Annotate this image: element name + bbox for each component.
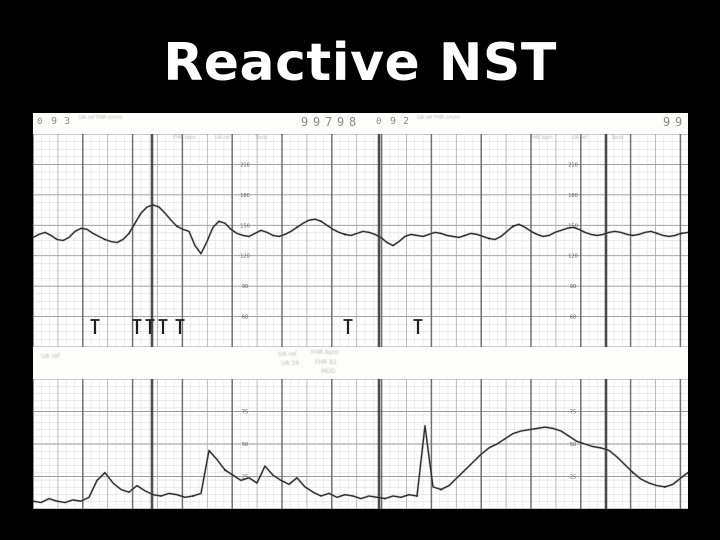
svg-text:75: 75 — [570, 410, 576, 416]
annotation-4: FHR 92 — [315, 359, 337, 366]
svg-text:120: 120 — [568, 254, 578, 260]
svg-text:75: 75 — [242, 410, 248, 416]
header-right-code-1: 9 — [390, 116, 396, 127]
header-right-block: UA ref FHR cm/m — [417, 116, 460, 121]
fhr-col-label-left-2: Tocol — [255, 135, 267, 141]
fhr-col-label-right-2: Tocol — [611, 135, 623, 141]
svg-text:60: 60 — [242, 315, 248, 321]
header-center-code-3: 9 — [337, 115, 344, 129]
fhr-chart: 60901201501802106090120150180210 — [33, 134, 688, 347]
annotation-2: FHR bpm — [311, 349, 339, 356]
fetal-monitoring-strip: 0 9 3 UA ref FHR cm/m 9 9 7 9 8 0 9 2 UA… — [33, 113, 688, 509]
fhr-col-label-right-0: FHR bpm — [530, 135, 553, 141]
toco-chart: 255075255075 — [33, 379, 688, 509]
svg-text:120: 120 — [240, 254, 250, 260]
annotation-0: UA ref — [41, 353, 60, 360]
header-right-code-2: 2 — [403, 116, 409, 127]
annotation-band: UA ref UA ref FHR bpm UA 19 FHR 92 MOD — [33, 347, 688, 379]
header-center-code-1: 9 — [313, 115, 320, 129]
svg-text:180: 180 — [568, 193, 578, 199]
page-title: Reactive NST — [0, 34, 720, 92]
header-farright-code-0: 9 — [663, 115, 670, 129]
header-farright-code-1: 9 — [675, 115, 682, 129]
header-left-code-1: 9 — [51, 116, 57, 127]
strip-header-band: 0 9 3 UA ref FHR cm/m 9 9 7 9 8 0 9 2 UA… — [33, 113, 688, 134]
svg-text:180: 180 — [240, 193, 250, 199]
slide-canvas: Reactive NST 0 9 3 UA ref FHR cm/m 9 9 7… — [0, 0, 720, 540]
header-left-code-0: 0 — [37, 117, 42, 127]
svg-text:50: 50 — [242, 442, 248, 448]
fhr-col-label-left-1: UA ref — [215, 135, 230, 141]
svg-text:50: 50 — [570, 442, 576, 448]
svg-text:90: 90 — [570, 284, 576, 290]
svg-text:210: 210 — [240, 162, 250, 168]
annotation-5: MOD — [321, 368, 336, 375]
uterine-activity-panel: 255075255075 — [33, 379, 688, 509]
svg-text:90: 90 — [242, 284, 248, 290]
header-left-block: UA ref FHR cm/m — [79, 116, 122, 121]
header-center-code-4: 8 — [349, 115, 356, 129]
annotation-1: UA ref — [278, 351, 297, 358]
svg-text:60: 60 — [570, 315, 576, 321]
svg-text:25: 25 — [570, 475, 576, 481]
annotation-3: UA 19 — [281, 360, 299, 367]
header-center-code-0: 9 — [301, 115, 308, 129]
header-left-code-2: 3 — [64, 116, 70, 127]
fhr-col-label-right-1: UA ref — [572, 135, 587, 141]
fhr-col-label-left-0: FHR bpm — [173, 135, 196, 141]
header-center-code-2: 7 — [325, 115, 332, 129]
svg-text:150: 150 — [240, 223, 250, 229]
fetal-heart-rate-panel: 60901201501802106090120150180210 FHR bpm… — [33, 134, 688, 347]
svg-text:210: 210 — [568, 162, 578, 168]
header-right-code-0: 0 — [376, 117, 381, 127]
